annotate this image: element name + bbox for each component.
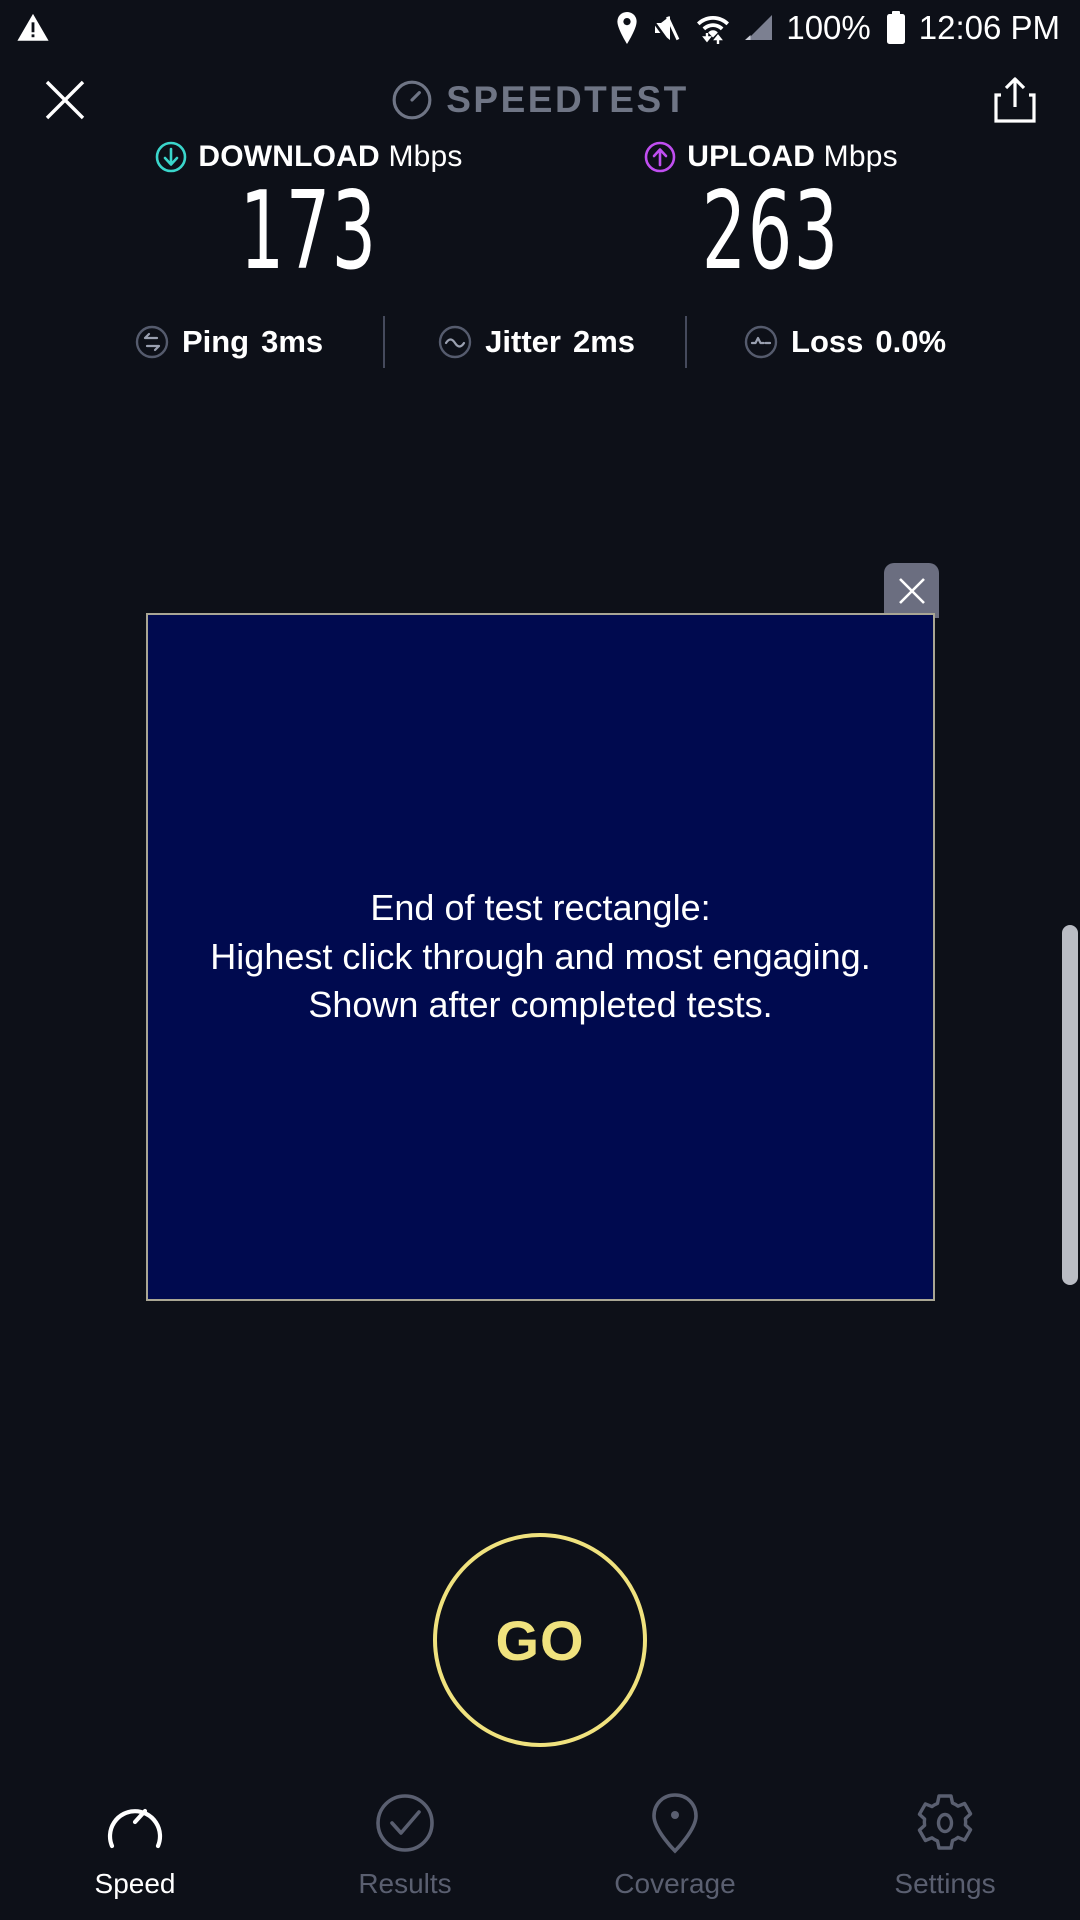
nav-item-speed[interactable]: Speed [0,1792,270,1900]
ad-line-3: Shown after completed tests. [210,981,870,1030]
nav-label-settings: Settings [894,1868,995,1900]
share-button[interactable] [986,71,1044,129]
loss-icon [743,324,779,360]
metric-loss-value: 0.0% [875,324,946,360]
go-button[interactable]: GO [433,1533,647,1747]
status-bar-clock: 12:06 PM [919,9,1060,47]
check-circle-icon [374,1792,436,1854]
ad-text: End of test rectangle: Highest click thr… [210,884,870,1030]
ad-close-button[interactable] [884,563,939,618]
gear-icon [914,1792,976,1854]
status-bar-left [16,11,50,45]
metric-divider [383,316,385,368]
arrow-down-circle-icon [155,141,187,173]
map-pin-icon [650,1792,700,1854]
battery-percent: 100% [786,9,870,47]
app-header: SPEEDTEST [0,60,1080,140]
nav-label-results: Results [358,1868,451,1900]
volume-muted-icon [652,13,684,43]
ad-line-1: End of test rectangle: [210,884,870,933]
nav-item-results[interactable]: Results [270,1792,540,1900]
ad-line-2: Highest click through and most engaging. [210,933,870,982]
metric-jitter-label: Jitter [485,324,561,360]
metric-loss: Loss 0.0% [743,324,946,360]
go-button-label: GO [495,1608,584,1673]
wifi-transfer-icon [696,12,730,44]
jitter-icon [437,324,473,360]
speedtest-app-screen: 100% 12:06 PM SPEEDTEST [0,0,1080,1920]
status-bar: 100% 12:06 PM [0,0,1080,56]
page-title: SPEEDTEST [446,79,689,121]
metric-jitter: Jitter 2ms [437,324,635,360]
upload-value: 263 [702,178,840,286]
ping-icon [134,324,170,360]
share-icon [992,75,1038,125]
bottom-navigation: Speed Results Coverage [0,1780,1080,1920]
status-bar-right: 100% 12:06 PM [614,9,1060,47]
metric-ping: Ping 3ms [134,324,323,360]
nav-label-coverage: Coverage [614,1868,735,1900]
nav-item-settings[interactable]: Settings [810,1792,1080,1900]
close-icon [41,76,89,124]
download-result: DOWNLOAD Mbps 173 [119,140,499,286]
metric-divider [685,316,687,368]
advertisement-banner[interactable]: End of test rectangle: Highest click thr… [146,613,935,1301]
nav-label-speed: Speed [95,1868,176,1900]
close-icon [895,574,929,608]
speedometer-icon [391,79,433,121]
close-button[interactable] [36,71,94,129]
metric-jitter-value: 2ms [573,324,635,360]
arrow-up-circle-icon [644,141,676,173]
warning-triangle-icon [16,11,50,45]
location-pin-icon [614,12,640,44]
download-value: 173 [240,178,378,286]
results-panel: DOWNLOAD Mbps 173 UPLOAD Mbps 263 [0,140,1080,286]
brand-title-group: SPEEDTEST [391,79,689,121]
page-scrollbar[interactable] [1062,925,1078,1285]
metric-ping-value: 3ms [261,324,323,360]
metric-ping-label: Ping [182,324,249,360]
rate-row: DOWNLOAD Mbps 173 UPLOAD Mbps 263 [0,140,1080,286]
nav-item-coverage[interactable]: Coverage [540,1792,810,1900]
upload-result: UPLOAD Mbps 263 [581,140,961,286]
metric-loss-label: Loss [791,324,863,360]
cellular-signal-icon [742,13,774,43]
metrics-row: Ping 3ms Jitter 2ms [0,316,1080,368]
speedometer-icon [104,1792,166,1854]
battery-full-icon [885,11,907,45]
